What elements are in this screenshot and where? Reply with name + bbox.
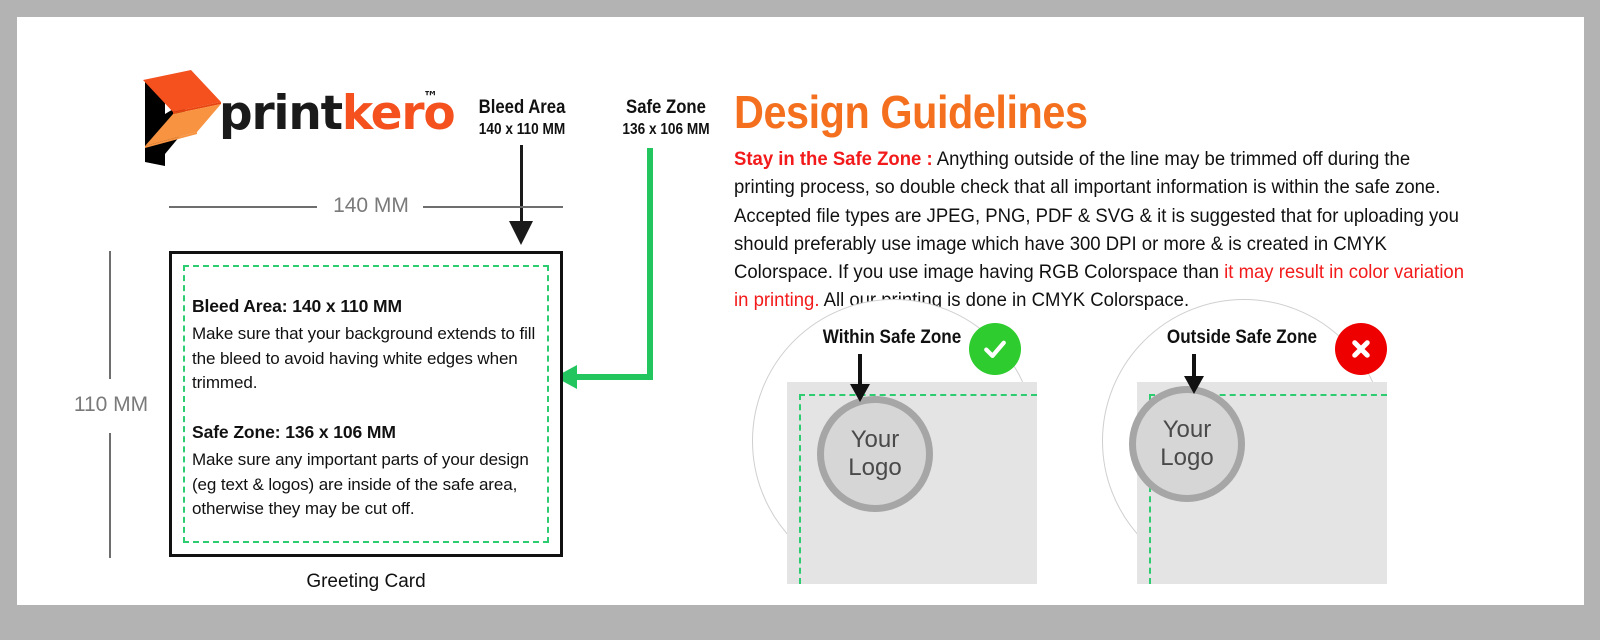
cross-icon bbox=[1335, 323, 1387, 375]
example-outside-safe-zone: Your Logo Outside Safe Zone bbox=[1097, 294, 1387, 584]
safe-zone-connector-horizontal bbox=[573, 374, 653, 380]
instruction-block-bleed: Bleed Area: 140 x 110 MM Make sure that … bbox=[192, 296, 544, 396]
printkero-logo: printkero ™ bbox=[127, 62, 437, 167]
example-logo-line-1: Your bbox=[1163, 416, 1212, 444]
width-dimension-label: 140 MM bbox=[317, 194, 425, 218]
instruction-block-safe: Safe Zone: 136 x 106 MM Make sure any im… bbox=[192, 422, 544, 522]
height-dimension-line-top bbox=[109, 251, 111, 379]
example-logo-line-2: Logo bbox=[1160, 444, 1213, 472]
example-arrow-icon bbox=[858, 354, 862, 388]
example-logo-line-2: Logo bbox=[848, 454, 901, 482]
guidelines-panel: Design Guidelines Stay in the Safe Zone … bbox=[717, 17, 1584, 605]
bleed-arrow-head-icon bbox=[509, 221, 533, 245]
safe-zone-connector-vertical bbox=[647, 148, 653, 380]
bleed-arrow-icon bbox=[520, 145, 523, 227]
artboard: printkero ™ Bleed Area 140 x 110 MM Safe… bbox=[17, 17, 1584, 605]
logo-mark-icon bbox=[139, 68, 221, 166]
check-icon bbox=[969, 323, 1021, 375]
instruction-heading-bleed: Bleed Area: 140 x 110 MM bbox=[192, 296, 544, 317]
instruction-body-safe: Make sure any important parts of your de… bbox=[192, 448, 544, 522]
example-arrow-head-icon bbox=[1184, 376, 1204, 394]
example-within-safe-zone: Your Logo Within Safe Zone bbox=[747, 294, 1037, 584]
logo-word-print: print bbox=[219, 86, 342, 141]
example-label-outside: Outside Safe Zone bbox=[1112, 327, 1373, 349]
instruction-heading-safe: Safe Zone: 136 x 106 MM bbox=[192, 422, 544, 443]
height-dimension-line-bottom bbox=[109, 433, 111, 558]
guidelines-paragraph: Stay in the Safe Zone : Anything outside… bbox=[734, 145, 1470, 315]
greeting-card-preview: Bleed Area: 140 x 110 MM Make sure that … bbox=[169, 251, 563, 557]
example-logo-placeholder: Your Logo bbox=[817, 396, 933, 512]
example-logo-line-1: Your bbox=[851, 426, 900, 454]
card-caption: Greeting Card bbox=[169, 571, 563, 593]
paragraph-lead: Stay in the Safe Zone : bbox=[734, 148, 933, 170]
height-dimension-label: 110 MM bbox=[61, 393, 161, 417]
page-title: Design Guidelines bbox=[734, 85, 1088, 139]
check-glyph bbox=[980, 334, 1010, 364]
instruction-body-bleed: Make sure that your background extends t… bbox=[192, 322, 544, 396]
logo-wordmark: printkero bbox=[219, 86, 454, 141]
example-logo-placeholder: Your Logo bbox=[1129, 386, 1245, 502]
card-instructions: Bleed Area: 140 x 110 MM Make sure that … bbox=[192, 296, 544, 522]
width-dimension-line-left bbox=[169, 206, 317, 208]
left-diagram-panel: printkero ™ Bleed Area 140 x 110 MM Safe… bbox=[17, 17, 717, 605]
example-arrow-head-icon bbox=[850, 384, 870, 402]
width-dimension-line-right bbox=[423, 206, 563, 208]
cross-glyph bbox=[1346, 334, 1376, 364]
